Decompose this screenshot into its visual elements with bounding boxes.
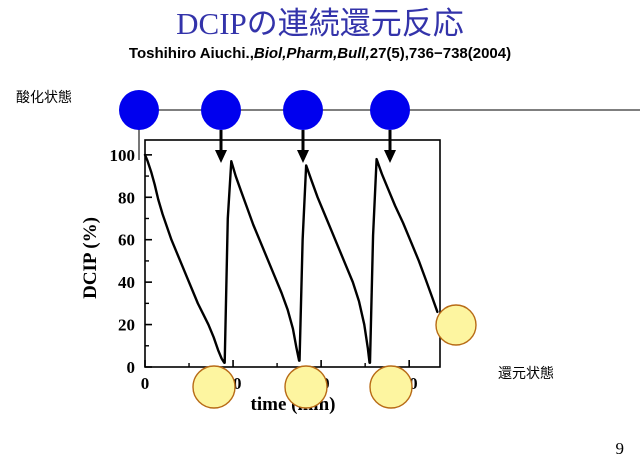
data-series-line xyxy=(145,155,437,363)
y-tick-label: 100 xyxy=(110,146,136,165)
reduced-state-marker[interactable] xyxy=(370,366,412,408)
arrow-head xyxy=(215,150,227,163)
citation-line: Toshihiro Aiuchi.,Biol,Pharm,Bull,27(5),… xyxy=(0,44,640,63)
citation-author: Toshihiro Aiuchi., xyxy=(129,45,254,62)
arrow-head xyxy=(297,150,309,163)
x-tick-label: 20 xyxy=(313,374,330,393)
y-axis-title: DCIP (%) xyxy=(80,217,101,299)
x-tick-label: 0 xyxy=(141,374,150,393)
x-tick-label: 10 xyxy=(225,374,242,393)
y-axis-ticks xyxy=(145,155,152,367)
y-axis-tick-labels: 020406080100 xyxy=(110,146,136,377)
y-tick-label: 40 xyxy=(118,273,135,292)
x-tick-label: 30 xyxy=(401,374,418,393)
oxidized-state-markers xyxy=(119,90,410,130)
y-tick-label: 0 xyxy=(127,358,136,377)
reduced-state-marker[interactable] xyxy=(285,366,327,408)
addition-arrows xyxy=(215,130,396,163)
oxidized-state-marker[interactable] xyxy=(119,90,159,130)
page-title: DCIPの連続還元反応 xyxy=(0,6,640,42)
plot-border xyxy=(145,140,440,367)
citation-reference: 27(5),736−738(2004) xyxy=(370,45,511,62)
chart-frame xyxy=(145,140,440,367)
oxidized-state-label: 酸化状態 xyxy=(16,88,72,106)
dcip-reduction-chart: 020406080100 0102030 DCIP (%) time (min) xyxy=(0,0,640,467)
arrow-head xyxy=(384,150,396,163)
slide-page-number: 9 xyxy=(616,439,625,459)
y-tick-label: 80 xyxy=(118,188,135,207)
x-axis-tick-labels: 0102030 xyxy=(141,374,418,393)
oxidized-state-marker[interactable] xyxy=(370,90,410,130)
y-tick-label: 60 xyxy=(118,231,135,250)
reduced-state-label: 還元状態 xyxy=(498,364,554,382)
slide-canvas: DCIPの連続還元反応 Toshihiro Aiuchi.,Biol,Pharm… xyxy=(0,0,640,467)
oxidized-state-marker[interactable] xyxy=(201,90,241,130)
reduced-state-marker[interactable] xyxy=(436,305,476,345)
y-tick-label: 20 xyxy=(118,316,135,335)
citation-journal: Biol,Pharm,Bull, xyxy=(254,45,370,62)
reduced-state-marker[interactable] xyxy=(193,366,235,408)
oxidized-connector-line xyxy=(139,110,640,160)
x-axis-ticks xyxy=(145,360,409,367)
oxidized-state-marker[interactable] xyxy=(283,90,323,130)
reduced-state-markers xyxy=(193,305,476,408)
x-axis-title: time (min) xyxy=(251,394,336,415)
